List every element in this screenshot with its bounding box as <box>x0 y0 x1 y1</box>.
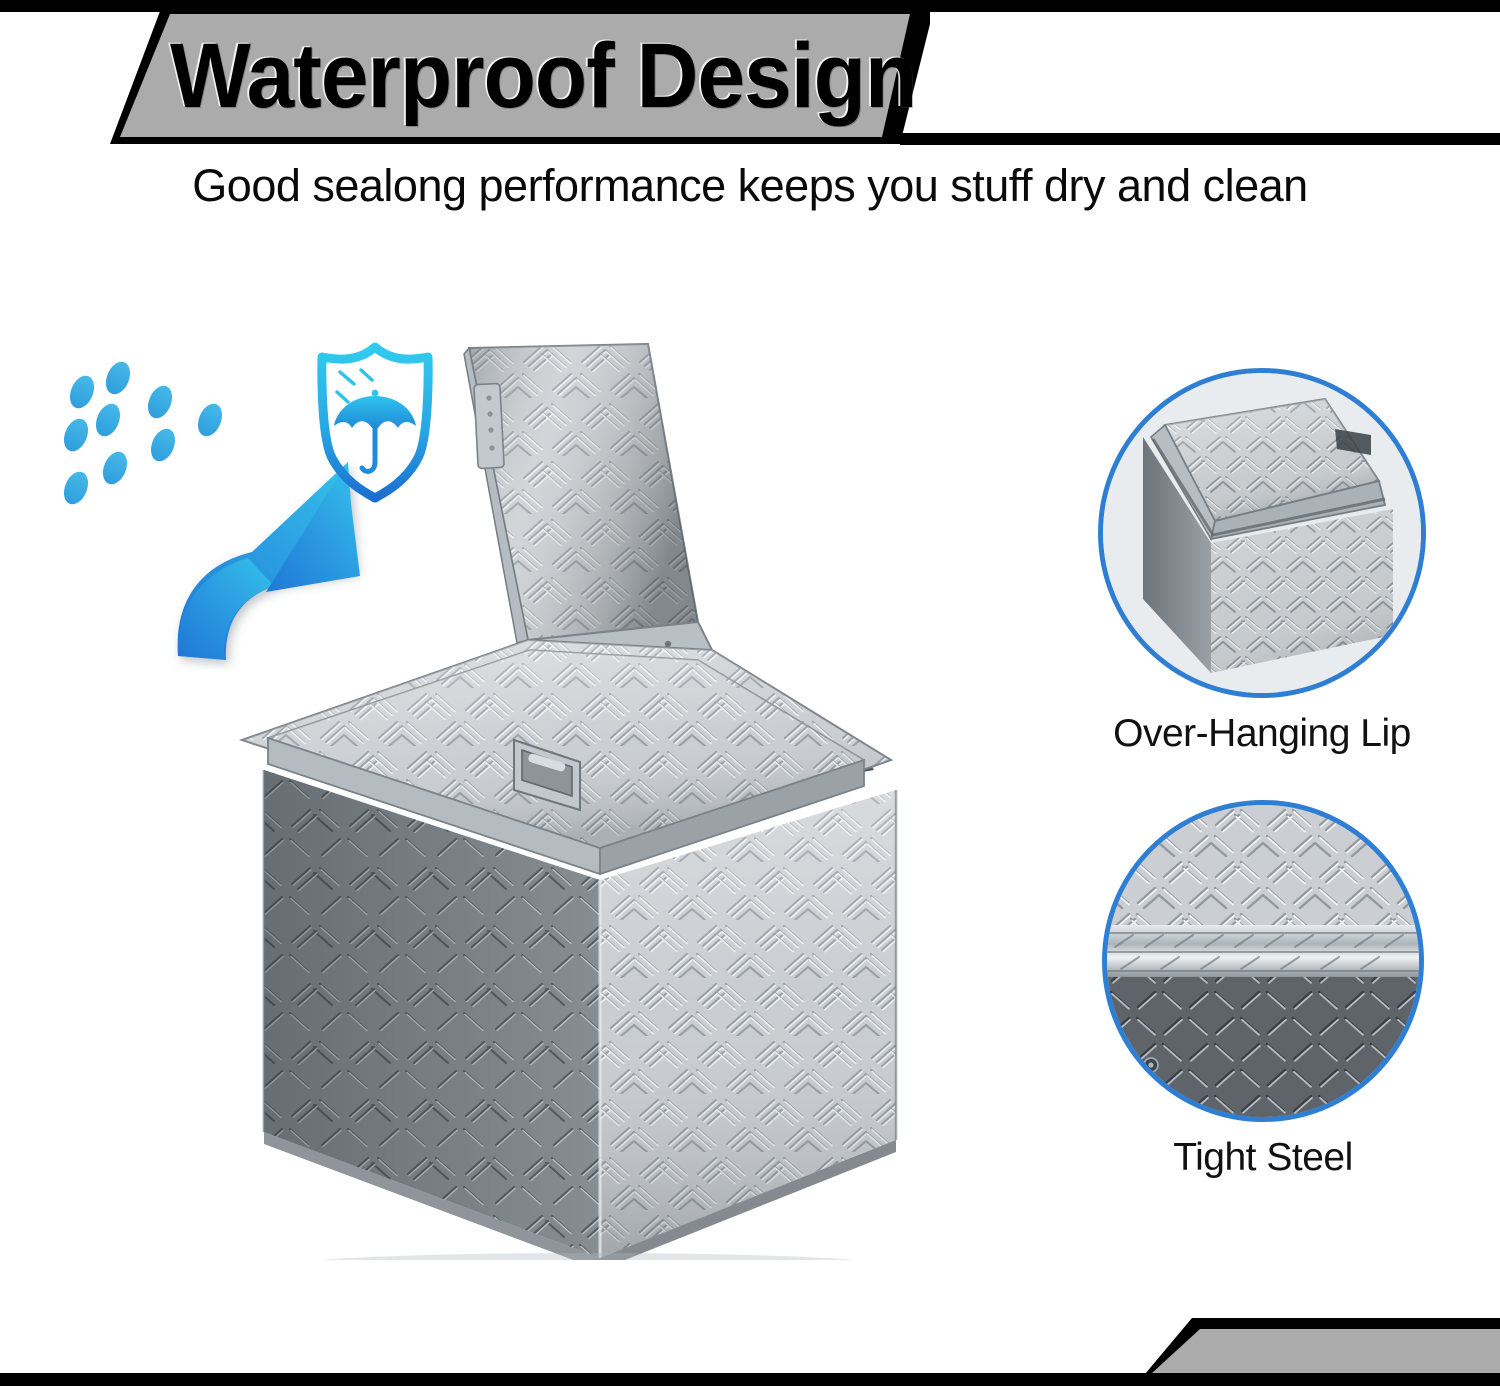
aluminum-diamond-plate-toolbox <box>228 340 988 1260</box>
callout-lip-image <box>1098 368 1426 698</box>
callout-steel-label: Tight Steel <box>1102 1136 1424 1180</box>
toolbox-body <box>242 640 896 1260</box>
bottom-banner-fill <box>1152 1329 1500 1373</box>
callout-steel-image <box>1102 800 1424 1122</box>
toolbox-open-lid <box>464 344 712 670</box>
banner-right-rule <box>900 133 1500 145</box>
header-banner: Waterproof Design <box>0 0 1500 150</box>
subtitle-text: Good sealong performance keeps you stuff… <box>0 160 1500 212</box>
waterproof-design-infographic: Waterproof Design Good sealong performan… <box>0 0 1500 1386</box>
callout-tight-steel: Tight Steel <box>1102 800 1424 1180</box>
bottom-black-bar <box>0 1373 1500 1386</box>
callout-lip-label: Over-Hanging Lip <box>1098 712 1426 756</box>
page-title: Waterproof Design <box>170 22 858 130</box>
callout-over-hanging-lip: Over-Hanging Lip <box>1098 368 1426 756</box>
